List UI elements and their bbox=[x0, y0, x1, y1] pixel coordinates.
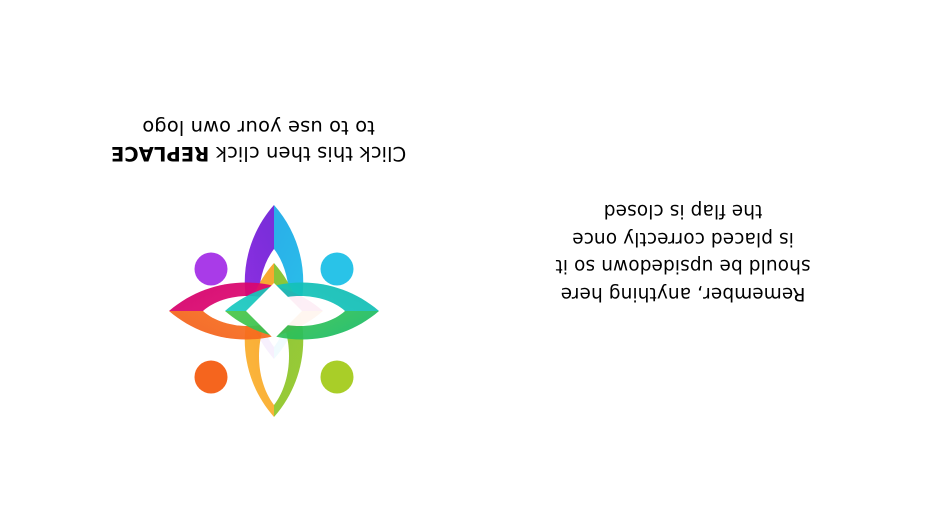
page-canvas: Click this then click REPLACE to to use … bbox=[0, 0, 929, 518]
instruction-line-1: Click this then click REPLACE bbox=[96, 140, 421, 166]
instruction-line-1-prefix: Click this then click bbox=[209, 142, 406, 165]
reminder-line-1: Remember, anything here bbox=[524, 280, 842, 308]
accent-circle-top-left bbox=[195, 253, 228, 286]
reminder-line-3: is placed correctly once bbox=[524, 225, 842, 253]
accent-circle-bottom-right bbox=[321, 361, 354, 394]
accent-circle-top-right bbox=[321, 253, 354, 286]
reminder-line-4: the flap is closed bbox=[524, 197, 842, 225]
logo-replace-instruction[interactable]: Click this then click REPLACE to to use … bbox=[96, 114, 421, 166]
accent-circle-bottom-left bbox=[195, 361, 228, 394]
four-petal-people-logo[interactable] bbox=[163, 197, 385, 425]
upside-down-reminder[interactable]: Remember, anything here should be upside… bbox=[524, 197, 842, 307]
instruction-line-2: to to use your own logo bbox=[96, 114, 421, 140]
reminder-line-2: should be upsidedown so it bbox=[524, 252, 842, 280]
replace-keyword: REPLACE bbox=[111, 142, 209, 165]
